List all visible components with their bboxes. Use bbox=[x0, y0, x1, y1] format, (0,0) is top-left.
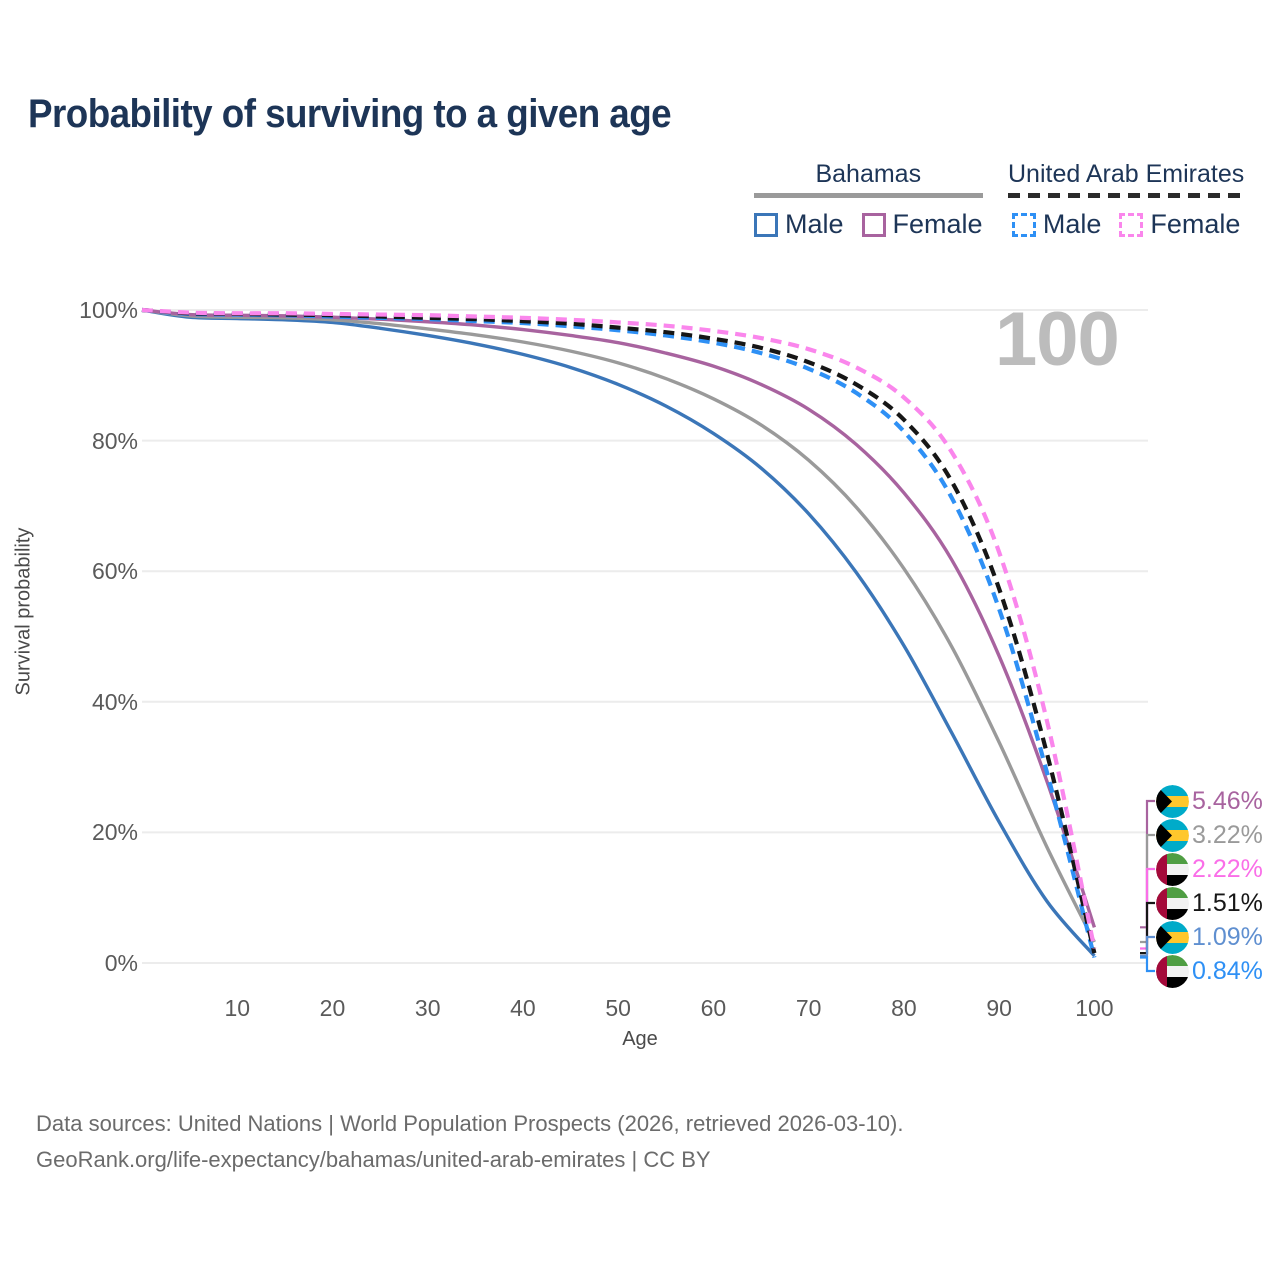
series-line bbox=[142, 310, 1094, 949]
end-label-value: 5.46% bbox=[1192, 787, 1263, 816]
chart-canvas bbox=[0, 0, 1280, 1060]
footer-line-sources: Data sources: United Nations | World Pop… bbox=[36, 1106, 903, 1142]
series-line bbox=[142, 310, 1094, 942]
uae-flag-icon bbox=[1156, 887, 1189, 920]
end-label-value: 1.51% bbox=[1192, 889, 1263, 918]
end-label-value: 2.22% bbox=[1192, 855, 1263, 884]
y-axis-tick-label: 40% bbox=[18, 689, 138, 716]
x-axis-tick-label: 90 bbox=[959, 995, 1039, 1022]
plot-area: 100 Survival probability Age 0%20%40%60%… bbox=[0, 0, 1280, 1060]
end-label[interactable]: 3.22% bbox=[1156, 818, 1263, 852]
end-label-value: 1.09% bbox=[1192, 923, 1263, 952]
footer-line-url: GeoRank.org/life-expectancy/bahamas/unit… bbox=[36, 1142, 903, 1178]
x-axis-tick-label: 60 bbox=[673, 995, 753, 1022]
y-axis-tick-label: 100% bbox=[18, 297, 138, 324]
end-label-value: 3.22% bbox=[1192, 821, 1263, 850]
series-end-labels: 5.46%3.22%2.22%1.51%1.09%0.84% bbox=[1142, 770, 1280, 976]
uae-flag-icon bbox=[1156, 853, 1189, 886]
end-label[interactable]: 1.51% bbox=[1156, 886, 1263, 920]
bahamas-flag-icon bbox=[1156, 785, 1189, 818]
x-axis-tick-label: 20 bbox=[292, 995, 372, 1022]
end-label[interactable]: 0.84% bbox=[1156, 954, 1263, 988]
bahamas-flag-icon bbox=[1156, 921, 1189, 954]
y-axis-tick-label: 60% bbox=[18, 558, 138, 585]
footer: Data sources: United Nations | World Pop… bbox=[36, 1106, 903, 1177]
series-line bbox=[142, 310, 1094, 927]
end-label[interactable]: 5.46% bbox=[1156, 784, 1263, 818]
series-line bbox=[142, 310, 1094, 953]
watermark-label: 100 bbox=[995, 296, 1119, 383]
y-axis-tick-label: 80% bbox=[18, 428, 138, 455]
series-line bbox=[142, 310, 1094, 956]
x-axis-tick-label: 70 bbox=[769, 995, 849, 1022]
bahamas-flag-icon bbox=[1156, 819, 1189, 852]
x-axis-tick-label: 10 bbox=[197, 995, 277, 1022]
y-axis-tick-label: 0% bbox=[18, 950, 138, 977]
x-axis-title: Age bbox=[540, 1028, 740, 1051]
end-label-value: 0.84% bbox=[1192, 957, 1263, 986]
series-line bbox=[142, 310, 1094, 958]
end-label[interactable]: 2.22% bbox=[1156, 852, 1263, 886]
x-axis-tick-label: 50 bbox=[578, 995, 658, 1022]
uae-flag-icon bbox=[1156, 955, 1189, 988]
x-axis-tick-label: 30 bbox=[388, 995, 468, 1022]
end-label[interactable]: 1.09% bbox=[1156, 920, 1263, 954]
x-axis-tick-label: 40 bbox=[483, 995, 563, 1022]
chart-page: Probability of surviving to a given age … bbox=[0, 0, 1280, 1280]
y-axis-tick-label: 20% bbox=[18, 819, 138, 846]
x-axis-tick-label: 100 bbox=[1054, 995, 1134, 1022]
x-axis-tick-label: 80 bbox=[864, 995, 944, 1022]
